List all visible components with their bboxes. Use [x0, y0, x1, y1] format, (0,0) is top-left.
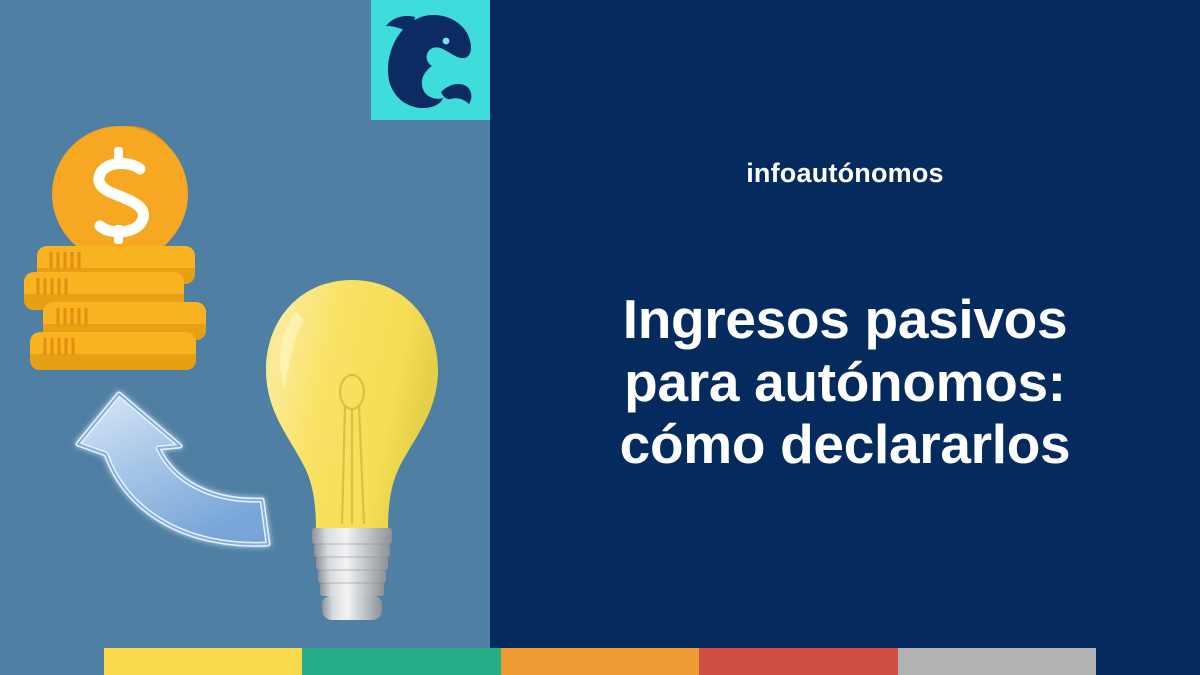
banner-canvas: infoautónomos Ingresos pasivos para autó…: [0, 0, 1200, 675]
coin-stack-illustration: [22, 122, 222, 372]
page-title: Ingresos pasivos para autónomos: cómo de…: [490, 288, 1200, 476]
infoautonomos-logo-tile[interactable]: [371, 0, 490, 120]
dolphin-icon: [371, 0, 490, 120]
headline-line-3: cómo declararlos: [490, 413, 1200, 476]
brand-color-strip: [104, 648, 1096, 675]
colorbar-segment-yellow: [104, 648, 302, 675]
colorbar-segment-gray: [898, 648, 1096, 675]
colorbar-segment-red: [699, 648, 897, 675]
brand-name: infoautónomos: [490, 158, 1200, 189]
left-illustration-panel: [0, 0, 490, 675]
light-bulb-illustration: [252, 272, 452, 627]
headline-line-1: Ingresos pasivos: [490, 288, 1200, 351]
headline-line-2: para autónomos:: [490, 351, 1200, 414]
colorbar-segment-orange: [501, 648, 699, 675]
colorbar-segment-green: [302, 648, 500, 675]
